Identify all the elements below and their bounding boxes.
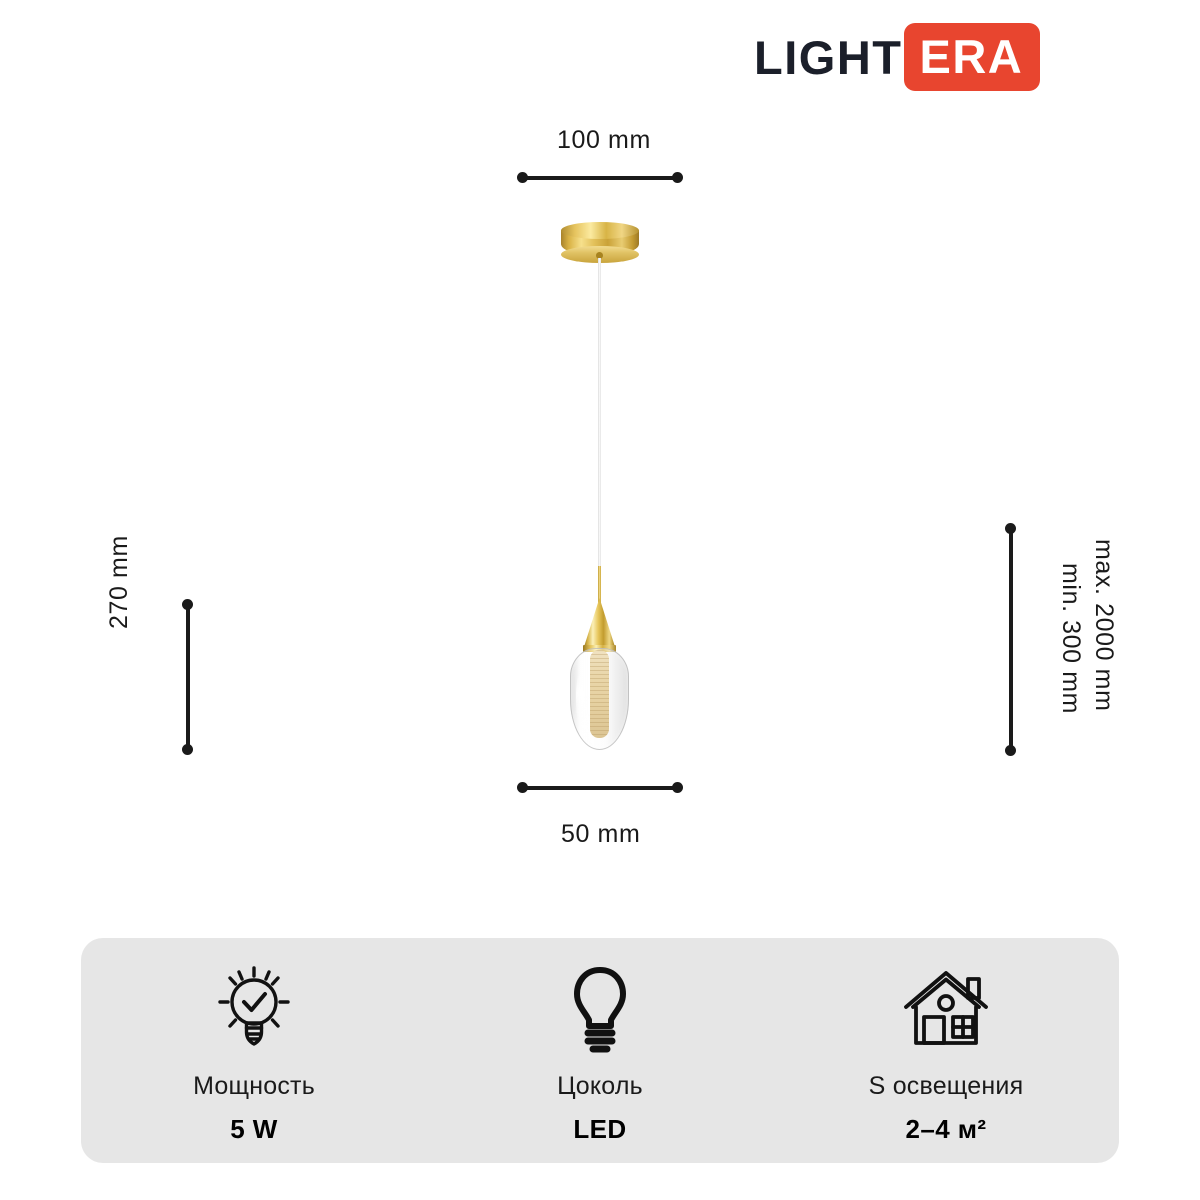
- spec-value-socket: LED: [573, 1114, 626, 1145]
- dimension-label-fixture-height: 270 mm: [105, 535, 134, 629]
- dimension-label-bottom-width: 50 mm: [561, 820, 640, 849]
- dimension-endpoint-dot: [1005, 523, 1016, 534]
- dimension-line-bottom-width: [522, 786, 677, 790]
- bulb-icon: [552, 960, 648, 1056]
- dimension-label-suspension-max: max. 2000 mm: [1089, 539, 1118, 712]
- dimension-label-suspension-min: min. 300 mm: [1056, 563, 1085, 714]
- spec-item-coverage: S освещения 2–4 м²: [773, 938, 1119, 1163]
- dimension-line-fixture-height: [186, 604, 190, 749]
- spec-item-power: Мощность 5 W: [81, 938, 427, 1163]
- house-icon: [898, 960, 994, 1056]
- spec-item-socket: Цоколь LED: [427, 938, 773, 1163]
- gold-stem-rod: [598, 566, 601, 603]
- dimension-endpoint-dot: [517, 782, 528, 793]
- spec-title-coverage: S освещения: [869, 1072, 1024, 1101]
- spec-value-power: 5 W: [230, 1114, 277, 1145]
- spec-title-socket: Цоколь: [557, 1072, 643, 1101]
- pendant-lamp-illustration: [0, 0, 1200, 930]
- spec-title-power: Мощность: [193, 1072, 315, 1101]
- dimension-line-suspension-range: [1009, 528, 1013, 750]
- ceiling-canopy-top: [561, 222, 639, 239]
- glass-outline: [570, 648, 629, 750]
- bulb-check-icon: [206, 960, 302, 1056]
- dimension-endpoint-dot: [182, 744, 193, 755]
- gold-cone-shade: [583, 598, 616, 650]
- dimension-endpoint-dot: [1005, 745, 1016, 756]
- spec-value-coverage: 2–4 м²: [906, 1114, 987, 1145]
- dimension-endpoint-dot: [672, 782, 683, 793]
- product-spec-sheet: LIGHT ERA 100 mm 270 mm max. 2000 mm min…: [0, 0, 1200, 1200]
- suspension-cable: [598, 258, 601, 570]
- dimension-endpoint-dot: [182, 599, 193, 610]
- specifications-panel: Мощность 5 W Цоколь LED: [81, 938, 1119, 1163]
